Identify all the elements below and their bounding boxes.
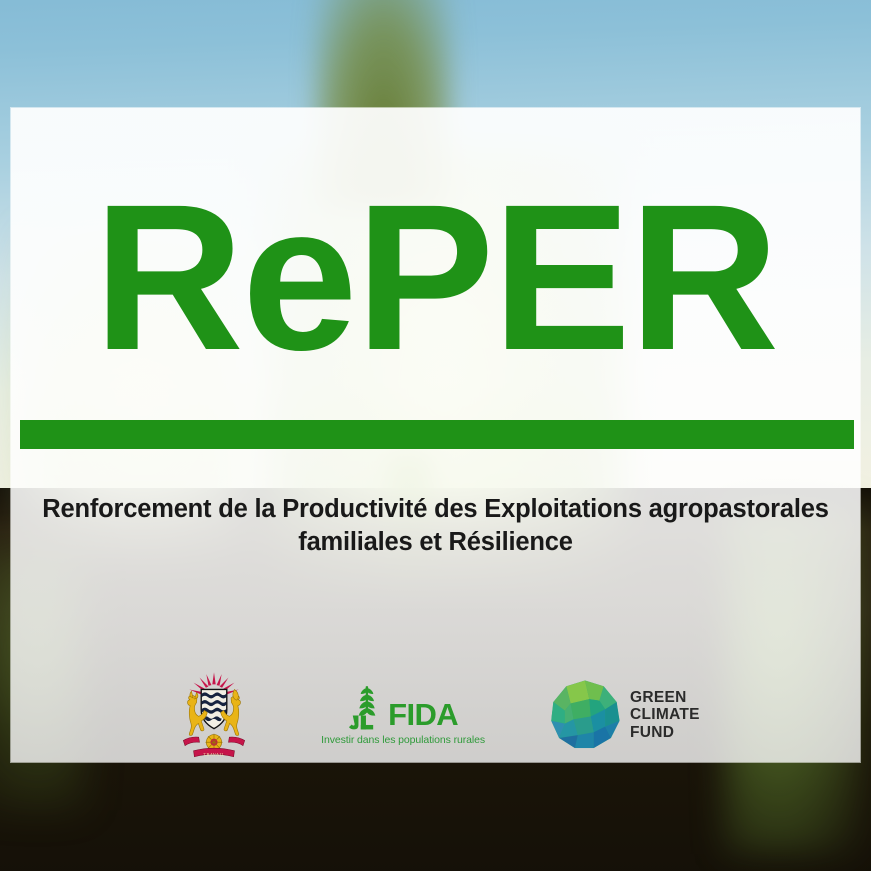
poster: RePER Renforcement de la Productivité de… [0,0,871,871]
gcf-line-2: CLIMATE [630,706,700,724]
gcf-line-1: GREEN [630,689,700,707]
partner-logo-strip: TRAVAIL [11,660,860,770]
page-subtitle: Renforcement de la Productivité des Expl… [41,493,830,559]
content-card: RePER Renforcement de la Productivité de… [11,108,860,762]
gcf-polygon-globe-icon [549,679,621,751]
gcf-line-3: FUND [630,724,700,742]
chad-coat-of-arms-icon: TRAVAIL [171,669,257,761]
subtitle-line-2: familiales et Résilience [298,528,572,556]
partner-gcf: GREEN CLIMATE FUND [549,679,700,751]
svg-text:TRAVAIL: TRAVAIL [204,752,225,757]
fida-tagline: Investir dans les populations rurales [321,734,485,746]
accent-rule [20,420,854,449]
subtitle-line-1: Renforcement de la Productivité des Expl… [42,495,828,523]
fida-wordmark: FIDA [388,701,458,730]
partner-chad: TRAVAIL [171,669,257,761]
gcf-wordmark: GREEN CLIMATE FUND [630,689,700,742]
brand-wordmark: RePER [11,174,860,382]
partner-fida: FIDA Investir dans les populations rural… [321,684,485,746]
fida-wheat-icon [348,684,386,730]
